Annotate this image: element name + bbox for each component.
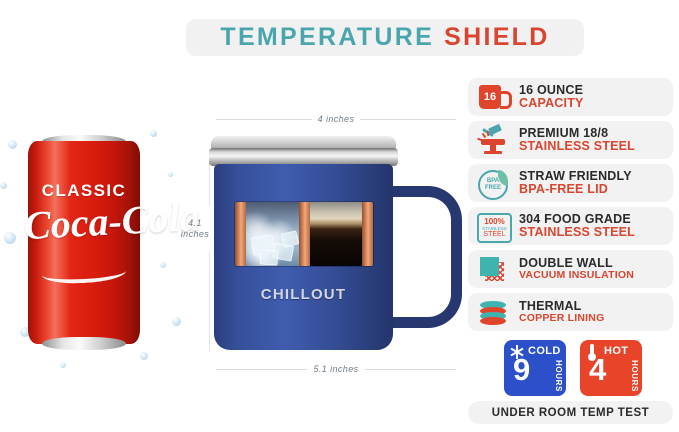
coffee-pane <box>310 202 363 266</box>
title-part-shield: SHIELD <box>444 25 549 50</box>
dimension-line <box>365 369 456 370</box>
mug-brand-label: CHILLOUT <box>214 286 393 303</box>
feature-text: 16 OUNCE CAPACITY <box>519 84 584 111</box>
can-brand-logo: Coca-Cola <box>23 200 145 246</box>
under-room-temp-test-note: UNDER ROOM TEMP TEST <box>468 401 673 424</box>
copper-lining-left <box>235 202 246 266</box>
stainless-100-icon: 100% STAINLESS STEEL <box>476 211 510 241</box>
retention-badges: COLD 9 HOURS HOT 4 HOURS <box>498 340 648 396</box>
mug-handle <box>383 186 462 328</box>
double-wall-icon <box>476 254 510 284</box>
anvil-hammer-icon <box>476 125 510 155</box>
hot-retention-badge: HOT 4 HOURS <box>580 340 642 396</box>
cold-hours-value: 9 <box>513 354 530 385</box>
feature-line-2: STAINLESS STEEL <box>519 140 635 154</box>
steel-label: STEEL <box>483 231 505 239</box>
mug-cutaway-window <box>235 202 373 266</box>
hot-label: HOT <box>604 345 628 357</box>
bpa-free-icon: BPA FREE <box>476 168 510 198</box>
can-bottom-rim <box>42 337 126 350</box>
feature-line-2: STAINLESS STEEL <box>519 226 635 240</box>
cold-hours-unit: HOURS <box>554 360 563 392</box>
feature-line-1: DOUBLE WALL <box>519 257 634 271</box>
dimension-line <box>360 119 456 120</box>
title-part-temperature: TEMPERATURE <box>220 25 434 50</box>
feature-text: THERMAL COPPER LINING <box>519 300 604 325</box>
feature-row-double-wall: DOUBLE WALL VACUUM INSULATION <box>468 250 673 288</box>
infographic-canvas: TEMPERATURE SHIELD CLASSIC Coca-Cola 4 i… <box>0 0 679 432</box>
bpa-line-2: FREE <box>485 185 501 192</box>
coca-cola-can: CLASSIC Coca-Cola <box>28 133 140 352</box>
ice-water-pane <box>246 202 299 266</box>
feature-row-food-grade: 100% STAINLESS STEEL 304 FOOD GRADE STAI… <box>468 207 673 245</box>
feature-text: STRAW FRIENDLY BPA-FREE LID <box>519 170 632 197</box>
mug-16-icon: 16 <box>476 82 510 112</box>
thermal-layers-icon <box>476 297 510 327</box>
feature-line-2: CAPACITY <box>519 97 584 111</box>
dimension-top: 4 inches <box>216 112 456 126</box>
feature-text: PREMIUM 18/8 STAINLESS STEEL <box>519 127 635 154</box>
page-title: TEMPERATURE SHIELD <box>186 19 584 56</box>
feature-row-capacity: 16 16 OUNCE CAPACITY <box>468 78 673 116</box>
feature-row-premium-steel: PREMIUM 18/8 STAINLESS STEEL <box>468 121 673 159</box>
mug-16-icon-glyph: 16 <box>479 85 501 109</box>
pct-label: 100% <box>484 218 504 226</box>
feature-line-1: PREMIUM 18/8 <box>519 127 635 141</box>
feature-line-2: COPPER LINING <box>519 313 604 324</box>
dimension-bottom: 5.1 inches <box>216 362 456 376</box>
feature-row-thermal: THERMAL COPPER LINING <box>468 293 673 331</box>
feature-line-2: BPA-FREE LID <box>519 183 632 197</box>
feature-line-1: THERMAL <box>519 300 604 314</box>
dimension-top-label: 4 inches <box>318 114 355 124</box>
feature-list: 16 16 OUNCE CAPACITY PREMIUM 18/8 <box>468 78 673 336</box>
feature-line-1: 16 OUNCE <box>519 84 584 98</box>
hot-hours-unit: HOURS <box>630 360 639 392</box>
feature-text: 304 FOOD GRADE STAINLESS STEEL <box>519 213 635 240</box>
cold-retention-badge: COLD 9 HOURS <box>504 340 566 396</box>
chillout-mug: CHILLOUT <box>205 136 455 356</box>
bpa-line-1: BPA <box>487 178 499 185</box>
feature-line-2: VACUUM INSULATION <box>519 270 634 281</box>
dimension-bottom-label: 5.1 inches <box>313 364 358 374</box>
feature-text: DOUBLE WALL VACUUM INSULATION <box>519 257 634 282</box>
copper-lining-right <box>362 202 373 266</box>
dimension-line <box>216 369 307 370</box>
feature-line-1: 304 FOOD GRADE <box>519 213 635 227</box>
feature-row-bpa-free: BPA FREE STRAW FRIENDLY BPA-FREE LID <box>468 164 673 202</box>
copper-lining-middle <box>299 202 310 266</box>
can-swoosh <box>42 261 127 285</box>
dimension-line <box>216 119 312 120</box>
feature-line-1: STRAW FRIENDLY <box>519 170 632 184</box>
cold-label: COLD <box>528 345 561 357</box>
can-body: CLASSIC Coca-Cola <box>28 141 140 344</box>
hot-hours-value: 4 <box>589 354 606 385</box>
